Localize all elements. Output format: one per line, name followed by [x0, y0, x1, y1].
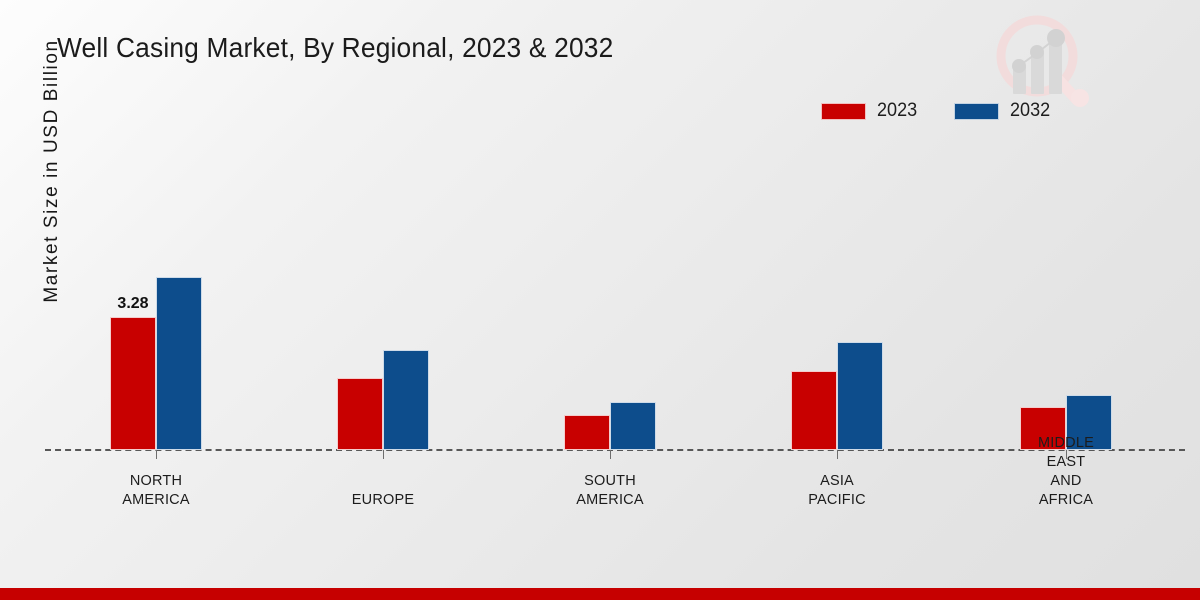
- bar-2032[interactable]: [383, 350, 429, 450]
- category-label-line: AND: [1006, 472, 1126, 491]
- category-label-line: NORTH: [96, 472, 216, 491]
- category-label: EUROPE: [323, 491, 443, 510]
- bar-2032[interactable]: [837, 342, 883, 450]
- axis-tick: [156, 450, 157, 459]
- bar-2023[interactable]: 3.28: [110, 317, 156, 450]
- chart-container: Well Casing Market, By Regional, 2023 & …: [0, 0, 1200, 600]
- category-label-line: SOUTH: [550, 472, 670, 491]
- axis-tick: [610, 450, 611, 459]
- category-label-line: AMERICA: [550, 491, 670, 510]
- category-label-line: MIDDLE: [1006, 434, 1126, 453]
- category-label-line: EAST: [1006, 453, 1126, 472]
- plot-area: 3.28NORTHAMERICAEUROPESOUTHAMERICAASIAPA…: [0, 0, 1200, 600]
- bar-2032[interactable]: [156, 277, 202, 450]
- category-label-line: AMERICA: [96, 491, 216, 510]
- category-label: ASIAPACIFIC: [777, 472, 897, 510]
- category-label: MIDDLEEASTANDAFRICA: [1006, 434, 1126, 510]
- bar-2023[interactable]: [791, 371, 837, 450]
- category-label-line: AFRICA: [1006, 491, 1126, 510]
- category-label: SOUTHAMERICA: [550, 472, 670, 510]
- bar-2023[interactable]: [564, 415, 610, 450]
- category-label-line: ASIA: [777, 472, 897, 491]
- axis-tick: [383, 450, 384, 459]
- axis-tick: [837, 450, 838, 459]
- bottom-accent-strip: [0, 588, 1200, 600]
- bar-2032[interactable]: [610, 402, 656, 450]
- bar-value-label: 3.28: [117, 295, 148, 313]
- bar-2023[interactable]: [337, 378, 383, 450]
- category-label: NORTHAMERICA: [96, 472, 216, 510]
- category-label-line: EUROPE: [323, 491, 443, 510]
- category-label-line: PACIFIC: [777, 491, 897, 510]
